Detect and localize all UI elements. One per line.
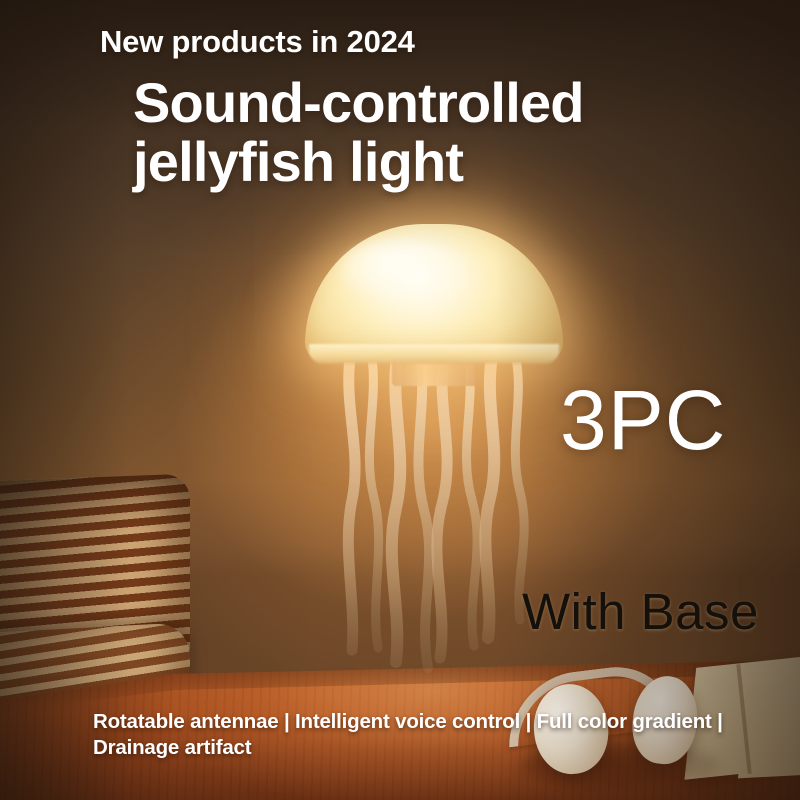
feature-list-text: Rotatable antennae | Intelligent voice c… <box>93 709 753 761</box>
headline-line-2: jellyfish light <box>133 130 463 193</box>
accessory-note: With Base <box>522 586 759 637</box>
product-banner-image: New products in 2024 Sound-controlledjel… <box>0 0 800 800</box>
dome-highlight <box>340 238 470 302</box>
headline-line-1: Sound-controlled <box>133 71 584 134</box>
dome-bottom-rim <box>309 344 559 364</box>
page-title: Sound-controlledjellyfish light <box>133 74 584 192</box>
eyebrow-text: New products in 2024 <box>100 24 415 60</box>
quantity-badge: 3PC <box>560 378 726 462</box>
